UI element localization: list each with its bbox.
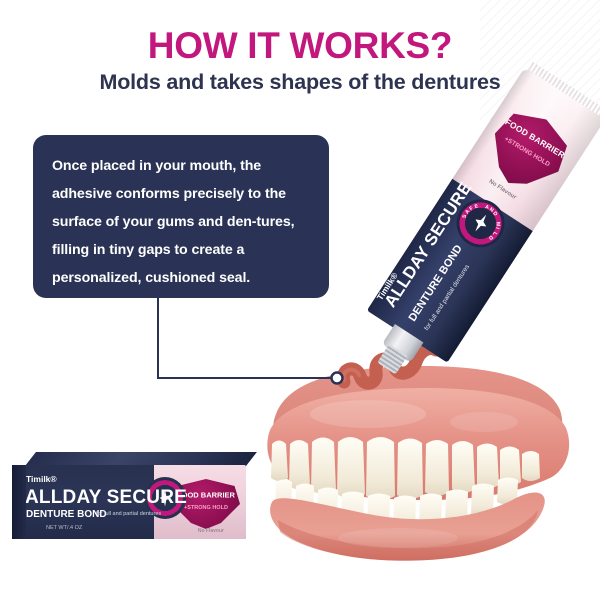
page-title: HOW IT WORKS?: [0, 27, 600, 66]
carton-top-panel: [25, 452, 257, 466]
tube-body: FOOD BARRIER +STRONG HOLD No Flavour SAF…: [367, 67, 600, 362]
callout-box: Once placed in your mouth, the adhesive …: [33, 135, 329, 298]
carton-brand: Timilk®: [26, 474, 57, 484]
carton-side-panel: [12, 465, 26, 539]
carton-front-panel: FOOD BARRIER +STRONG HOLD No Flavour Tim…: [12, 465, 246, 539]
product-carton: FOOD BARRIER +STRONG HOLD No Flavour Tim…: [12, 452, 246, 544]
carton-food-barrier-subtitle: +STRONG HOLD: [184, 505, 228, 512]
callout-body-text: Once placed in your mouth, the adhesive …: [52, 152, 309, 292]
carton-flavour-text: No Flavour: [198, 528, 224, 534]
carton-subtitle: DENTURE BOND: [26, 509, 107, 520]
carton-net-weight: NET WT/.4 OZ: [46, 525, 82, 531]
carton-fine-print: for full and partial dentures: [96, 511, 161, 517]
product-tube: FOOD BARRIER +STRONG HOLD No Flavour SAF…: [378, 82, 600, 352]
infographic-canvas: HOW IT WORKS? Molds and takes shapes of …: [0, 0, 600, 600]
carton-title: ALLDAY SECURE: [25, 487, 187, 509]
